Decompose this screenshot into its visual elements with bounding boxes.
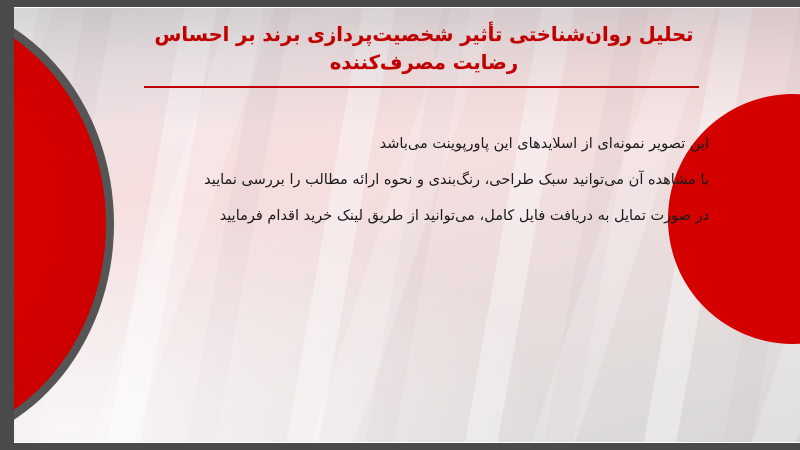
slide-canvas: تحلیل روان‌شناختی تأثیر شخصیت‌پردازی برن… xyxy=(14,8,800,442)
body-line-2: با مشاهده آن می‌توانید سبک طراحی، رنگ‌بن… xyxy=(124,162,709,198)
slide-frame-bottom-highlight xyxy=(14,442,800,443)
slide-title-line-1: تحلیل روان‌شناختی تأثیر شخصیت‌پردازی برن… xyxy=(144,21,704,49)
slide-frame-left xyxy=(0,0,14,450)
presentation-slide: تحلیل روان‌شناختی تأثیر شخصیت‌پردازی برن… xyxy=(0,0,800,450)
slide-title: تحلیل روان‌شناختی تأثیر شخصیت‌پردازی برن… xyxy=(144,21,704,77)
title-divider-rule xyxy=(144,86,699,88)
slide-frame-bottom xyxy=(0,442,800,450)
body-line-3: در صورت تمایل به دریافت فایل کامل، می‌تو… xyxy=(124,198,709,234)
body-line-1: این تصویر نمونه‌ای از اسلایدهای این پاور… xyxy=(124,126,709,162)
slide-body-text: این تصویر نمونه‌ای از اسلایدهای این پاور… xyxy=(124,126,709,234)
slide-frame-top-highlight xyxy=(14,7,800,8)
slide-title-line-2: رضایت مصرف‌کننده xyxy=(144,49,704,77)
